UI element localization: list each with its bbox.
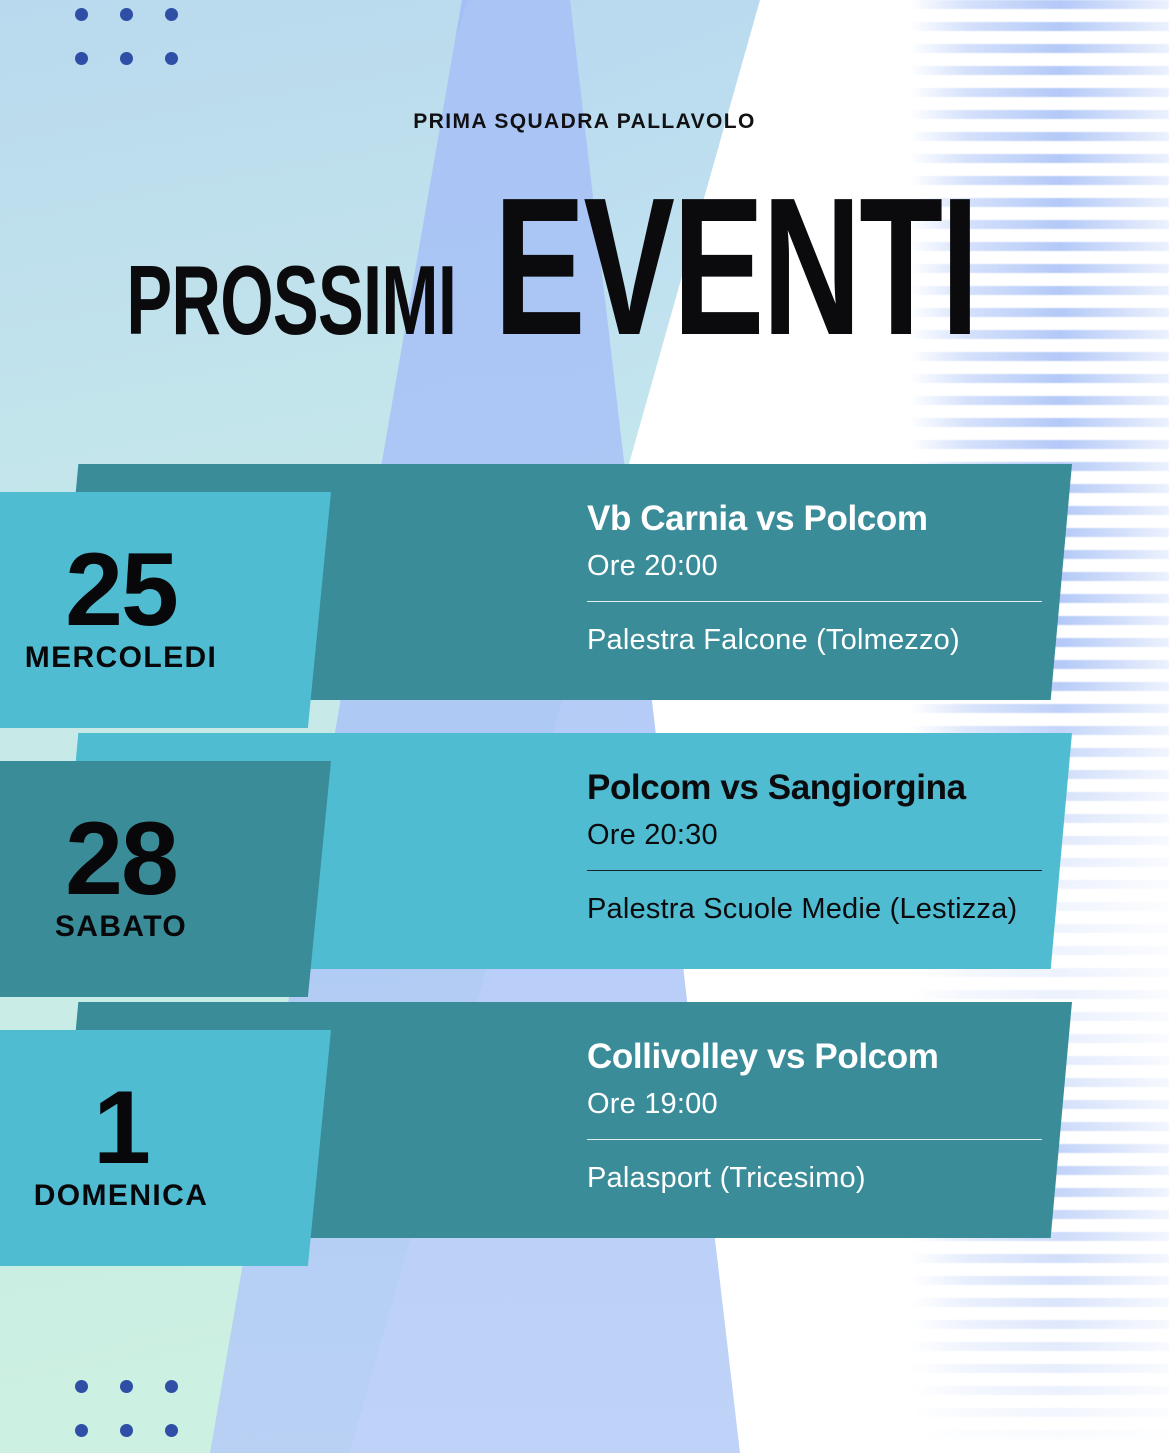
event-venue: Palestra Falcone (Tolmezzo) bbox=[587, 624, 1057, 657]
event-time: Ore 19:00 bbox=[587, 1088, 1057, 1121]
event-date-block: 28 SABATO bbox=[0, 761, 331, 997]
event-match-title: Vb Carnia vs Polcom bbox=[587, 500, 1057, 539]
event-date-block: 25 MERCOLEDI bbox=[0, 492, 331, 728]
dot-grid-icon-top bbox=[75, 8, 178, 65]
event-divider bbox=[587, 870, 1042, 871]
event-date-block: 1 DOMENICA bbox=[0, 1030, 331, 1266]
event-details: Vb Carnia vs Polcom Ore 20:00 Palestra F… bbox=[587, 500, 1057, 657]
page-title-main: EVENTI bbox=[494, 175, 977, 359]
event-divider bbox=[587, 601, 1042, 602]
page-title: PROSSIMI EVENTI bbox=[0, 175, 1169, 359]
event-weekday-label: DOMENICA bbox=[34, 1179, 209, 1213]
event-divider bbox=[587, 1139, 1042, 1140]
event-venue: Palasport (Tricesimo) bbox=[587, 1162, 1057, 1195]
kicker-text: PRIMA SQUADRA PALLAVOLO bbox=[0, 110, 1169, 134]
page-title-prefix: PROSSIMI bbox=[126, 254, 456, 346]
event-match-title: Polcom vs Sangiorgina bbox=[587, 769, 1107, 808]
event-weekday-label: SABATO bbox=[55, 910, 187, 944]
event-weekday-label: MERCOLEDI bbox=[25, 641, 218, 675]
event-day-number: 25 bbox=[65, 545, 177, 637]
event-day-number: 28 bbox=[65, 814, 177, 906]
dot-grid-icon-bottom bbox=[75, 1380, 178, 1437]
event-day-number: 1 bbox=[93, 1083, 149, 1175]
event-venue: Palestra Scuole Medie (Lestizza) bbox=[587, 893, 1107, 926]
event-time: Ore 20:30 bbox=[587, 819, 1107, 852]
event-details: Collivolley vs Polcom Ore 19:00 Palaspor… bbox=[587, 1038, 1057, 1195]
event-match-title: Collivolley vs Polcom bbox=[587, 1038, 1057, 1077]
poster-canvas: PRIMA SQUADRA PALLAVOLO PROSSIMI EVENTI … bbox=[0, 0, 1169, 1453]
event-time: Ore 20:00 bbox=[587, 550, 1057, 583]
event-details: Polcom vs Sangiorgina Ore 20:30 Palestra… bbox=[587, 769, 1107, 926]
